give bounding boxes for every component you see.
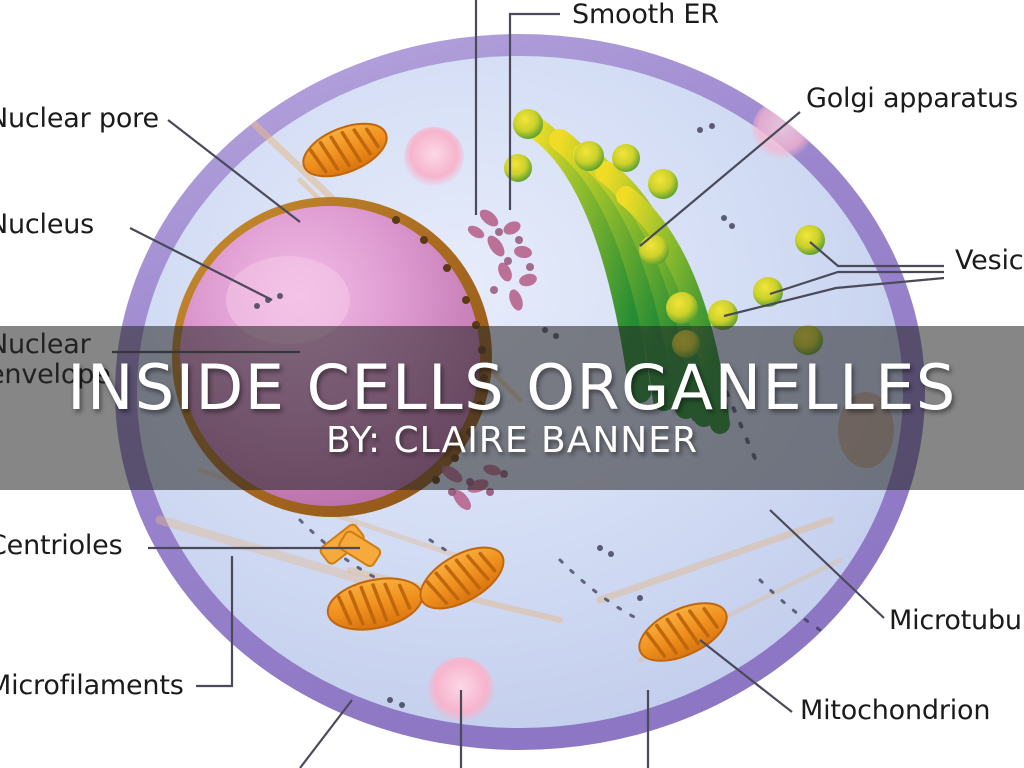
label-smooth-er: Smooth ER <box>572 0 719 30</box>
label-centrioles: Centrioles <box>0 531 122 561</box>
slide-subtitle: BY: CLAIRE BANNER <box>326 423 698 459</box>
presentation-slide: Smooth ER Golgi apparatus Vesicles Micro… <box>0 0 1024 768</box>
label-mitochondrion: Mitochondrion <box>800 696 990 726</box>
label-microfilaments: Microfilaments <box>0 671 184 701</box>
slide-title: INSIDE CELLS ORGANELLES <box>67 357 957 419</box>
label-vesicles: Vesicles <box>955 246 1024 276</box>
label-golgi-apparatus: Golgi apparatus <box>806 84 1018 114</box>
label-microtubule: Microtubule <box>889 606 1024 636</box>
label-nuclear-pore: Nuclear pore <box>0 104 159 134</box>
title-overlay-band: INSIDE CELLS ORGANELLES BY: CLAIRE BANNE… <box>0 326 1024 490</box>
label-nucleus: Nucleus <box>0 210 94 240</box>
